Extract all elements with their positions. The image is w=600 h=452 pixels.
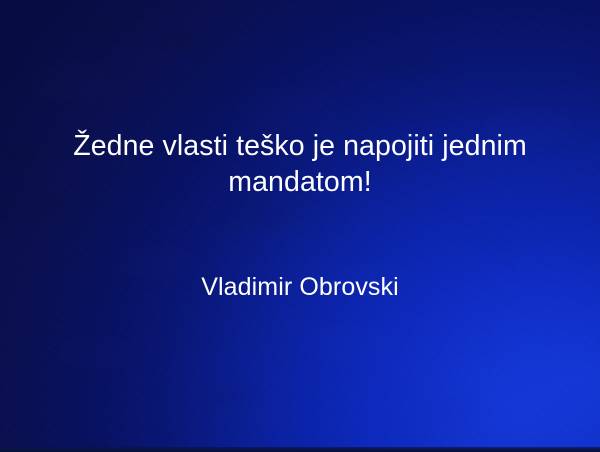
slide-bottom-edge-band [0, 447, 600, 452]
slide-content: Žedne vlasti teško je napojiti jednim ma… [0, 0, 600, 452]
presentation-slide: Žedne vlasti teško je napojiti jednim ma… [0, 0, 600, 452]
slide-author: Vladimir Obrovski [40, 271, 560, 303]
slide-author-block: Vladimir Obrovski [40, 271, 560, 303]
slide-title: Žedne vlasti teško je napojiti jednim ma… [40, 128, 560, 200]
slide-title-block: Žedne vlasti teško je napojiti jednim ma… [40, 128, 560, 200]
